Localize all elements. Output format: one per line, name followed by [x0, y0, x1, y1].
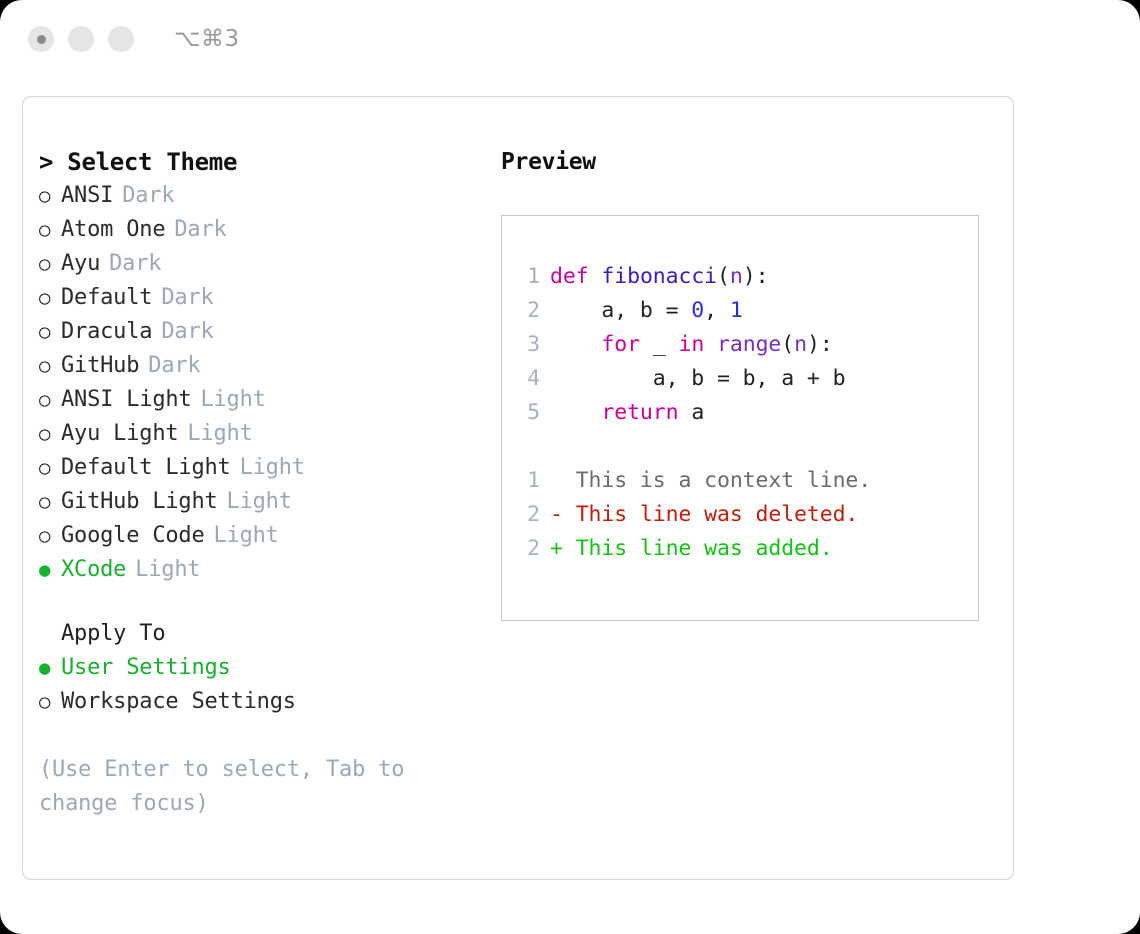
traffic-light-second-icon[interactable]: [68, 26, 94, 52]
radio-unselected-icon: ○: [39, 451, 61, 485]
theme-option-name: ANSI Light: [61, 383, 191, 417]
theme-option-ayu[interactable]: ○AyuDark: [39, 247, 479, 281]
theme-option-kind: Light: [135, 553, 200, 587]
select-theme-header: > Select Theme: [39, 145, 479, 179]
code-line: 2 a, b = 0, 1: [516, 294, 978, 328]
preview-column: Preview 1def fibonacci(n):2 a, b = 0, 13…: [501, 145, 993, 621]
theme-option-kind: Light: [240, 451, 305, 485]
diff-preview: 1 This is a context line.2- This line wa…: [516, 464, 978, 566]
code-token: in: [678, 332, 704, 357]
theme-option-ansi[interactable]: ○ANSIDark: [39, 179, 479, 213]
theme-option-kind: Light: [187, 417, 252, 451]
diff-line: 1 This is a context line.: [516, 464, 978, 498]
code-token: _: [640, 332, 679, 357]
app-window: ⌥⌘3 > Select Theme ○ANSIDark○Atom OneDar…: [0, 0, 1140, 934]
radio-unselected-icon: ○: [39, 213, 61, 247]
code-token: range: [717, 332, 781, 357]
traffic-light-dot-inner: [37, 35, 46, 44]
radio-unselected-icon: ○: [39, 485, 61, 519]
diff-text: This line was added.: [563, 536, 833, 561]
keyboard-hint-text: (Use Enter to select, Tab to change focu…: [39, 753, 439, 821]
code-line-number: 2: [516, 294, 540, 328]
theme-option-kind: Dark: [122, 179, 174, 213]
code-token: for: [601, 332, 640, 357]
traffic-light-third-icon[interactable]: [108, 26, 134, 52]
code-token: n: [730, 264, 743, 289]
theme-option-atom-one[interactable]: ○Atom OneDark: [39, 213, 479, 247]
theme-selection-column: > Select Theme ○ANSIDark○Atom OneDark○Ay…: [39, 145, 479, 821]
code-token: n: [794, 332, 807, 357]
apply-to-list: ●User Settings○Workspace Settings: [39, 651, 479, 719]
radio-selected-icon: ●: [39, 651, 61, 685]
code-token: (: [781, 332, 794, 357]
code-token: [550, 332, 601, 357]
code-token: ,: [704, 298, 730, 323]
radio-unselected-icon: ○: [39, 519, 61, 553]
apply-to-option-user-settings[interactable]: ●User Settings: [39, 651, 479, 685]
code-token: fibonacci: [601, 264, 717, 289]
diff-line-number: 1: [516, 464, 540, 498]
code-token: 1: [730, 298, 743, 323]
diff-marker: -: [550, 502, 563, 527]
radio-unselected-icon: ○: [39, 281, 61, 315]
apply-to-option-workspace-settings[interactable]: ○Workspace Settings: [39, 685, 479, 719]
diff-text: This line was deleted.: [563, 502, 858, 527]
apply-to-option-label: Workspace Settings: [61, 685, 296, 719]
diff-line: 2- This line was deleted.: [516, 498, 978, 532]
code-token: ):: [807, 332, 833, 357]
theme-option-name: Ayu Light: [61, 417, 178, 451]
code-token: a, b =: [550, 298, 691, 323]
main-panel: > Select Theme ○ANSIDark○Atom OneDark○Ay…: [22, 96, 1014, 880]
radio-unselected-icon: ○: [39, 179, 61, 213]
preview-title: Preview: [501, 145, 993, 179]
theme-option-google-code[interactable]: ○Google CodeLight: [39, 519, 479, 553]
code-token: 0: [691, 298, 704, 323]
window-titlebar: ⌥⌘3: [0, 0, 1140, 78]
code-line: 1def fibonacci(n):: [516, 260, 978, 294]
theme-option-name: GitHub: [61, 349, 139, 383]
apply-to-option-label: User Settings: [61, 651, 231, 685]
theme-option-name: GitHub Light: [61, 485, 218, 519]
spacer: [39, 719, 479, 753]
theme-option-default[interactable]: ○DefaultDark: [39, 281, 479, 315]
code-token: [550, 400, 601, 425]
theme-option-kind: Dark: [174, 213, 226, 247]
code-preview: 1def fibonacci(n):2 a, b = 0, 13 for _ i…: [516, 260, 978, 430]
keyboard-shortcut-label: ⌥⌘3: [174, 26, 240, 52]
theme-option-kind: Light: [227, 485, 292, 519]
code-line: 3 for _ in range(n):: [516, 328, 978, 362]
theme-option-name: Ayu: [61, 247, 100, 281]
theme-option-kind: Dark: [148, 349, 200, 383]
theme-option-default-light[interactable]: ○Default LightLight: [39, 451, 479, 485]
code-token: a, b = b, a + b: [550, 366, 845, 391]
code-token: (: [717, 264, 730, 289]
radio-unselected-icon: ○: [39, 247, 61, 281]
theme-option-kind: Dark: [161, 281, 213, 315]
code-token: def: [550, 264, 589, 289]
radio-unselected-icon: ○: [39, 417, 61, 451]
theme-option-github[interactable]: ○GitHubDark: [39, 349, 479, 383]
code-token: a: [678, 400, 704, 425]
theme-option-name: ANSI: [61, 179, 113, 213]
theme-option-name: Atom One: [61, 213, 165, 247]
diff-marker: [550, 468, 563, 493]
code-line-number: 5: [516, 396, 540, 430]
code-token: [589, 264, 602, 289]
radio-unselected-icon: ○: [39, 685, 61, 719]
code-line-number: 1: [516, 260, 540, 294]
theme-option-name: Google Code: [61, 519, 205, 553]
diff-line: 2+ This line was added.: [516, 532, 978, 566]
radio-unselected-icon: ○: [39, 315, 61, 349]
spacer: [516, 430, 978, 464]
code-line-number: 4: [516, 362, 540, 396]
radio-selected-icon: ●: [39, 553, 61, 587]
theme-option-name: Default Light: [61, 451, 231, 485]
code-line: 5 return a: [516, 396, 978, 430]
theme-option-kind: Light: [214, 519, 279, 553]
theme-option-kind: Light: [200, 383, 265, 417]
theme-option-name: Dracula: [61, 315, 152, 349]
theme-option-ayu-light[interactable]: ○Ayu LightLight: [39, 417, 479, 451]
theme-option-name: Default: [61, 281, 152, 315]
diff-line-number: 2: [516, 532, 540, 566]
code-token: [704, 332, 717, 357]
diff-line-number: 2: [516, 498, 540, 532]
theme-option-xcode[interactable]: ●XCodeLight: [39, 553, 479, 587]
preview-box: 1def fibonacci(n):2 a, b = 0, 13 for _ i…: [501, 215, 979, 621]
traffic-light-active-icon[interactable]: [28, 26, 54, 52]
apply-to-header: Apply To: [61, 617, 479, 651]
theme-list: ○ANSIDark○Atom OneDark○AyuDark○DefaultDa…: [39, 179, 479, 587]
theme-option-kind: Dark: [109, 247, 161, 281]
spacer: [39, 587, 479, 617]
theme-option-ansi-light[interactable]: ○ANSI LightLight: [39, 383, 479, 417]
radio-unselected-icon: ○: [39, 349, 61, 383]
code-token: return: [601, 400, 678, 425]
code-line: 4 a, b = b, a + b: [516, 362, 978, 396]
code-token: ):: [743, 264, 769, 289]
diff-marker: +: [550, 536, 563, 561]
theme-option-github-light[interactable]: ○GitHub LightLight: [39, 485, 479, 519]
theme-option-dracula[interactable]: ○DraculaDark: [39, 315, 479, 349]
diff-text: This is a context line.: [563, 468, 871, 493]
radio-unselected-icon: ○: [39, 383, 61, 417]
theme-option-name: XCode: [61, 553, 126, 587]
theme-option-kind: Dark: [161, 315, 213, 349]
code-line-number: 3: [516, 328, 540, 362]
